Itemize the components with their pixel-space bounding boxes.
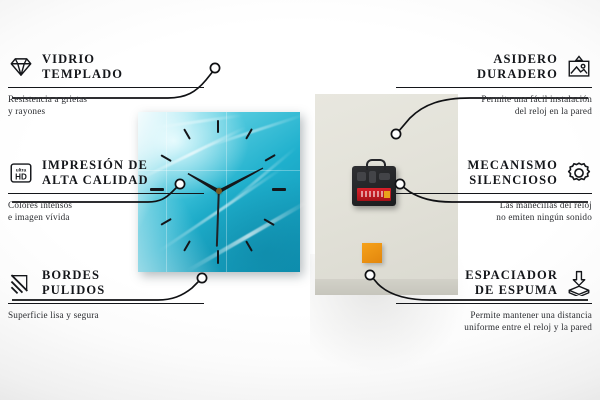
gear-icon [566,160,592,186]
feature-desc-line1: Las manecillas del reloj [396,199,592,211]
feature-title-line2: PULIDOS [42,283,105,298]
feature-desc-line1: Permite una fácil instalación [396,93,592,105]
clock-center-pivot [216,188,222,194]
feature-divider [396,87,592,88]
feature-title-line2: DURADERO [477,67,558,82]
connector-dot [210,63,219,72]
second-hand [216,191,220,247]
feature-desc-line1: Colores intensos [8,199,204,211]
feature-divider [8,303,204,304]
feature-divider [396,303,592,304]
ultra-hd-icon: ultra HD [8,160,34,186]
feature-espaciador-de-espuma: ESPACIADOR DE ESPUMA Permite mantener un… [396,268,592,334]
feature-title-line1: BORDES [42,268,105,283]
feature-title-line1: ESPACIADOR [465,268,558,283]
feature-desc-line2: no emiten ningún sonido [396,211,592,223]
hour-marker [217,120,219,133]
feature-title-line1: ASIDERO [477,52,558,67]
feature-divider [8,87,204,88]
hour-marker [245,240,253,252]
mechanism-hanger-icon [366,159,386,170]
feature-desc-line2: del reloj en la pared [396,105,592,117]
feature-desc-line2: uniforme entre el reloj y la pared [396,321,592,333]
feature-desc-line1: Superficie lisa y segura [8,309,204,321]
feature-title-line2: SILENCIOSO [468,173,558,188]
mechanism-knob [357,172,366,181]
infographic-canvas: VIDRIO TEMPLADO Resistencia a grietas y … [0,0,600,400]
svg-text:HD: HD [15,173,27,182]
foam-spacer-pad [362,243,382,263]
feature-title-line1: MECANISMO [468,158,558,173]
hour-marker [264,154,276,162]
hanging-frame-icon [566,54,592,80]
feature-title-line2: TEMPLADO [42,67,123,82]
foam-spacer-icon [566,270,592,296]
feature-desc-line2: e imagen vívida [8,211,204,223]
feature-desc-line1: Resistencia a grietas [8,93,204,105]
battery [357,188,391,201]
polished-edges-icon [8,270,34,296]
feature-title-line2: ALTA CALIDAD [42,173,149,188]
feature-desc-line2: y rayones [8,105,204,117]
feature-bordes-pulidos: BORDES PULIDOS Superficie lisa y segura [8,268,204,321]
mechanism-knob [369,171,376,183]
feature-title-line1: IMPRESIÓN DE [42,158,149,173]
feature-impresion-alta-calidad: ultra HD IMPRESIÓN DE ALTA CALIDAD Color… [8,158,204,224]
hour-marker [183,128,191,140]
hour-marker [183,240,191,252]
hour-marker [245,128,253,140]
hour-marker [272,188,286,191]
feature-title-line1: VIDRIO [42,52,123,67]
diamond-icon [8,54,34,80]
feature-vidrio-templado: VIDRIO TEMPLADO Resistencia a grietas y … [8,52,204,118]
feature-divider [396,193,592,194]
feature-asidero-duradero: ASIDERO DURADERO Permite una fácil insta… [396,52,592,118]
feature-desc-line1: Permite mantener una distancia [396,309,592,321]
mechanism-knob [379,173,390,180]
feature-divider [8,193,204,194]
battery-plus-terminal [384,191,390,198]
battery-label [361,191,383,197]
feature-title-line2: DE ESPUMA [465,283,558,298]
feature-mecanismo-silencioso: MECANISMO SILENCIOSO Las manecillas del … [396,158,592,224]
clock-mechanism [352,166,396,206]
